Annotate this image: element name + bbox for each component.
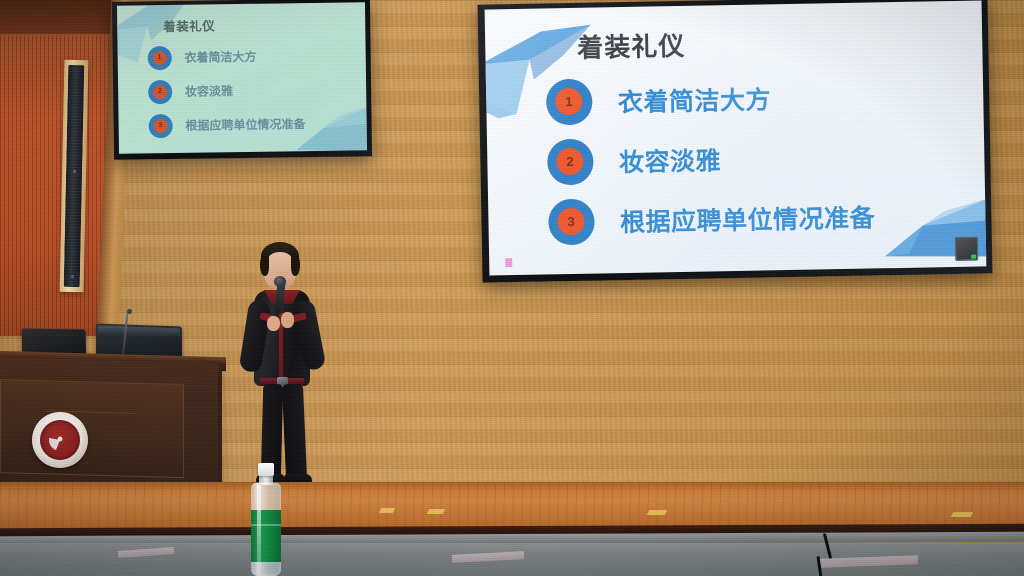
slide-corner-decoration-bottomright bbox=[294, 102, 367, 154]
bullet-text: 妆容淡雅 bbox=[185, 82, 233, 100]
bullet-number-badge: 2 bbox=[547, 138, 594, 185]
lecture-hall-photo: 着装礼仪 1 衣着简洁大方 2 妆容淡雅 3 bbox=[0, 0, 1024, 576]
list-item: 1 衣着简洁大方 bbox=[545, 64, 973, 132]
bullet-number-badge: 2 bbox=[148, 79, 172, 103]
slide-corner-decoration-topleft bbox=[117, 2, 194, 69]
bullet-text: 衣着简洁大方 bbox=[618, 80, 772, 119]
bullet-number: 1 bbox=[152, 51, 166, 65]
bullet-number: 1 bbox=[555, 88, 582, 115]
acoustic-panel-header bbox=[0, 0, 112, 34]
gooseneck-microphone-head bbox=[127, 309, 132, 314]
list-item: 2 妆容淡雅 bbox=[546, 124, 974, 192]
bullet-number-badge: 3 bbox=[148, 113, 172, 137]
floor-marker-tape bbox=[379, 508, 395, 513]
bottle-neck bbox=[259, 475, 273, 485]
speaker-mount-screw-bottom bbox=[70, 275, 73, 278]
list-item: 2 妆容淡雅 bbox=[148, 72, 362, 109]
bullet-text: 衣着简洁大方 bbox=[184, 48, 256, 66]
bullet-text: 妆容淡雅 bbox=[619, 141, 722, 179]
bullet-text: 根据应聘单位情况准备 bbox=[620, 198, 876, 239]
console-highlight bbox=[98, 326, 180, 338]
bullet-number-badge: 1 bbox=[545, 78, 592, 125]
bullet-number: 2 bbox=[556, 148, 583, 175]
bullet-number-badge: 1 bbox=[147, 45, 171, 69]
list-item: 3 根据应聘单位情况准备 bbox=[548, 184, 976, 252]
slide-title: 着装礼仪 bbox=[577, 26, 686, 65]
bullet-number-badge: 3 bbox=[548, 198, 595, 245]
ir-sensor-box bbox=[955, 237, 978, 261]
slide-bullet-list: 1 衣着简洁大方 2 妆容淡雅 3 根据应聘单位情况准备 bbox=[545, 64, 976, 252]
screen-pink-artifact bbox=[505, 258, 512, 267]
bottle-highlight bbox=[257, 485, 261, 573]
screen-glare bbox=[117, 2, 367, 153]
emblem-mark-icon bbox=[49, 429, 72, 452]
wall-speaker-column bbox=[60, 60, 89, 292]
water-bottle bbox=[249, 463, 283, 576]
stage-floor-shadow bbox=[0, 482, 1024, 492]
slide-bullet-list: 1 衣着简洁大方 2 妆容淡雅 3 根据应聘单位情况准备 bbox=[147, 38, 362, 143]
emblem-ring bbox=[39, 419, 80, 460]
slide-title: 着装礼仪 bbox=[163, 15, 215, 35]
main-slide: 着装礼仪 1 衣着简洁大方 2 妆容淡雅 3 bbox=[485, 0, 987, 275]
speaker-grille bbox=[64, 65, 85, 287]
presenter-right-leg bbox=[282, 384, 307, 481]
secondary-display-bezel: 着装礼仪 1 衣着简洁大方 2 妆容淡雅 3 bbox=[112, 0, 372, 160]
acoustic-wall-panel bbox=[0, 0, 112, 336]
bullet-number: 3 bbox=[153, 119, 167, 133]
lectern bbox=[0, 357, 218, 501]
main-display-bezel: 着装礼仪 1 衣着简洁大方 2 妆容淡雅 3 bbox=[477, 0, 992, 283]
bottle-label bbox=[251, 510, 281, 562]
floor-marker-tape bbox=[951, 512, 973, 517]
presenter-hair-right bbox=[291, 254, 300, 276]
speaker-mount-screw-top bbox=[73, 170, 76, 173]
bullet-text: 根据应聘单位情况准备 bbox=[185, 115, 305, 134]
bullet-number: 2 bbox=[153, 85, 167, 99]
floor-marker-tape bbox=[647, 510, 667, 515]
bottle-cap bbox=[258, 463, 274, 476]
status-led-icon bbox=[971, 255, 976, 259]
floor-marker-tape bbox=[427, 509, 445, 514]
presenter-right-hand bbox=[281, 312, 294, 328]
presenter-hair-left bbox=[260, 254, 269, 276]
list-item: 1 衣着简洁大方 bbox=[147, 38, 361, 75]
presenter-left-hand bbox=[267, 316, 280, 331]
bullet-number: 3 bbox=[557, 208, 584, 235]
secondary-slide: 着装礼仪 1 衣着简洁大方 2 妆容淡雅 3 bbox=[117, 2, 367, 153]
list-item: 3 根据应聘单位情况准备 bbox=[148, 106, 362, 143]
microphone-head-icon bbox=[274, 276, 286, 287]
